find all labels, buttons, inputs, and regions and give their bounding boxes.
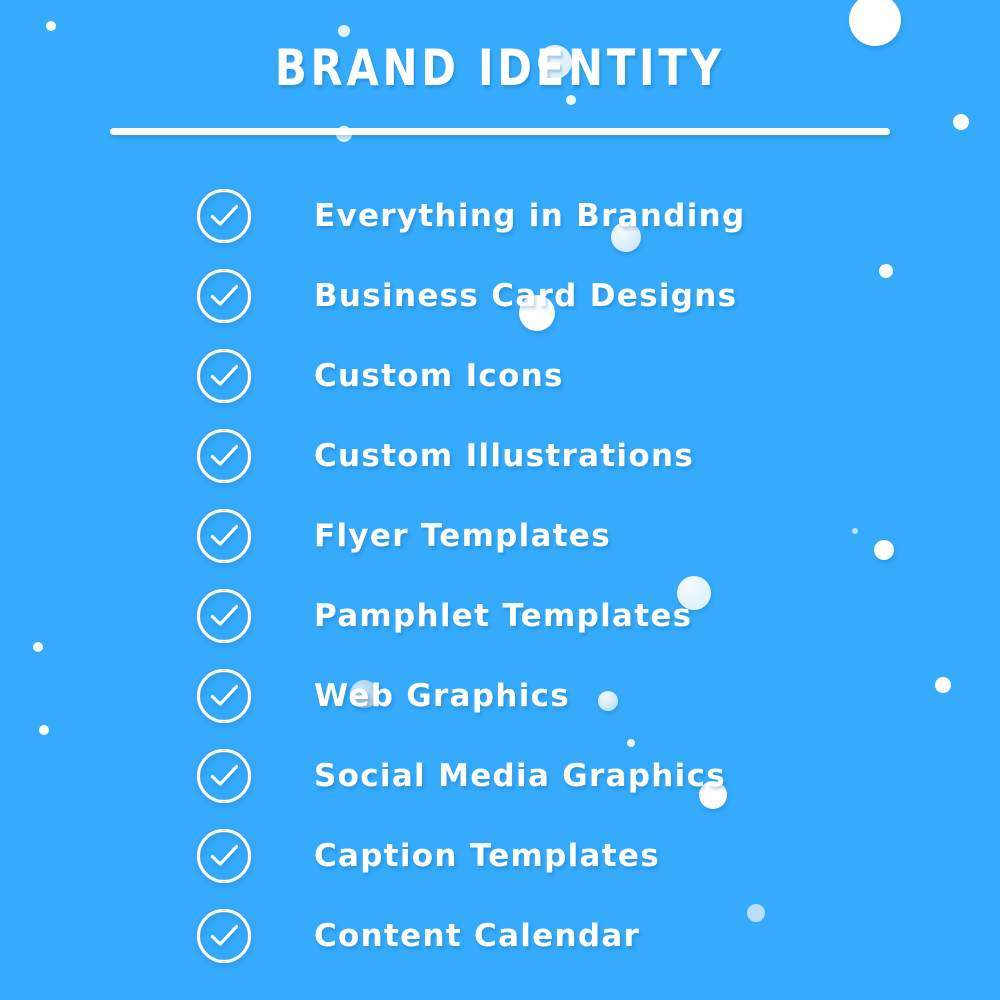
list-item-label: Custom Icons xyxy=(314,361,564,392)
feature-item-1: Everything in Branding xyxy=(0,176,1000,256)
feature-item-7: Web Graphics xyxy=(0,656,1000,736)
check-circle-icon xyxy=(196,188,252,244)
feature-item-3: Custom Icons xyxy=(0,336,1000,416)
check-circle-icon xyxy=(196,828,252,884)
list-item-label: Custom Illustrations xyxy=(314,441,694,472)
decorative-bubble xyxy=(46,21,56,31)
feature-item-6: Pamphlet Templates xyxy=(0,576,1000,656)
list-item-label: Pamphlet Templates xyxy=(314,601,692,632)
list-item-label: Social Media Graphics xyxy=(314,761,726,792)
list-item-label: Business Card Designs xyxy=(314,281,737,312)
check-circle-icon xyxy=(196,508,252,564)
feature-item-8: Social Media Graphics xyxy=(0,736,1000,816)
check-circle-icon xyxy=(196,268,252,324)
list-item-label: Web Graphics xyxy=(314,681,570,712)
list-item-label: Caption Templates xyxy=(314,841,660,872)
list-item-label: Flyer Templates xyxy=(314,521,611,552)
feature-item-10: Content Calendar xyxy=(0,896,1000,976)
feature-item-5: Flyer Templates xyxy=(0,496,1000,576)
check-circle-icon xyxy=(196,348,252,404)
list-item-label: Content Calendar xyxy=(314,921,640,952)
decorative-bubble xyxy=(338,25,350,37)
check-circle-icon xyxy=(196,428,252,484)
check-circle-icon xyxy=(196,908,252,964)
feature-item-2: Business Card Designs xyxy=(0,256,1000,336)
page-title: BRAND IDENTITY xyxy=(275,42,725,95)
list-item-label: Everything in Branding xyxy=(314,201,746,232)
title-container: BRAND IDENTITY xyxy=(0,42,1000,95)
decorative-bubble xyxy=(849,0,901,46)
title-divider xyxy=(110,128,890,135)
feature-item-9: Caption Templates xyxy=(0,816,1000,896)
decorative-bubble xyxy=(953,114,969,130)
check-circle-icon xyxy=(196,588,252,644)
check-circle-icon xyxy=(196,748,252,804)
check-circle-icon xyxy=(196,668,252,724)
feature-item-4: Custom Illustrations xyxy=(0,416,1000,496)
brand-identity-poster: BRAND IDENTITY Everything in Branding Bu… xyxy=(0,0,1000,1000)
feature-list: Everything in Branding Business Card Des… xyxy=(0,176,1000,976)
